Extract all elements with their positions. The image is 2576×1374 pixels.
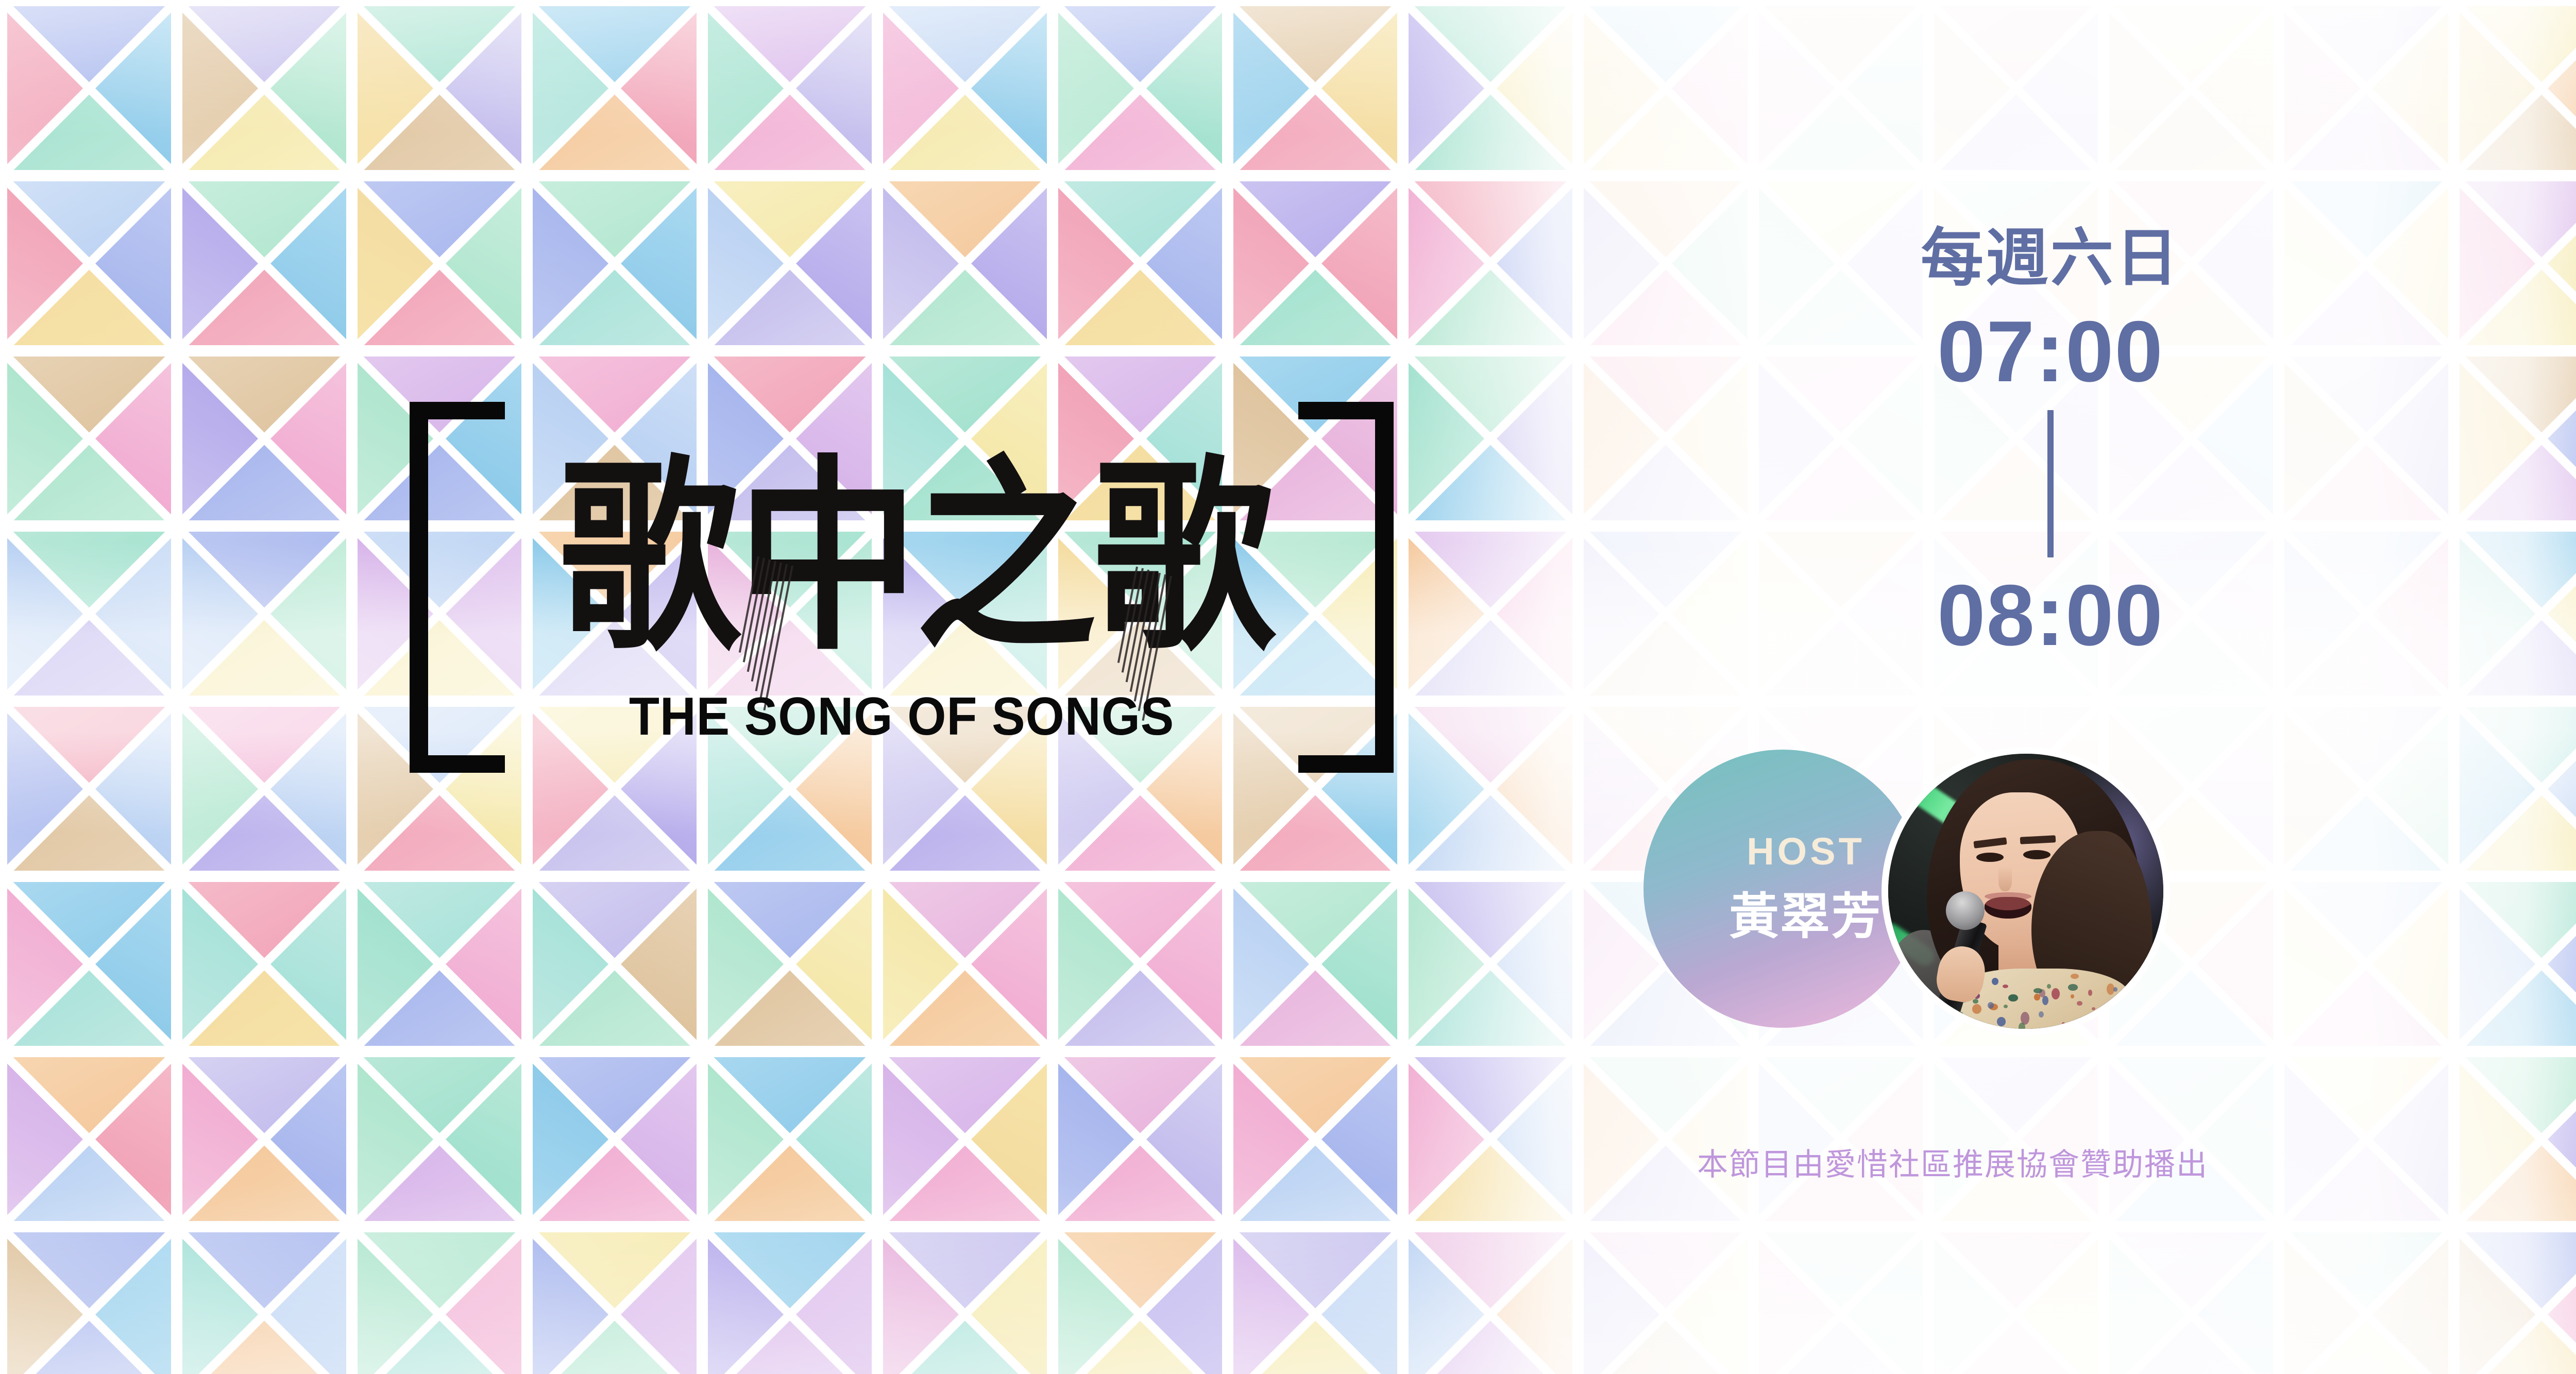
background-tile	[1584, 181, 1748, 345]
floral-motif	[2062, 1022, 2065, 1025]
background-tile	[1934, 6, 2098, 170]
background-tile	[2460, 1057, 2576, 1221]
background-tile	[2460, 6, 2576, 170]
background-tile	[1584, 1232, 1748, 1374]
background-tile	[533, 1057, 697, 1221]
background-tile	[533, 181, 697, 345]
photo-mouth	[1985, 897, 2031, 919]
background-tile	[1058, 181, 1222, 345]
background-tile	[7, 1232, 171, 1374]
background-tile	[182, 1057, 346, 1221]
background-tile	[2109, 1057, 2273, 1221]
background-tile	[1233, 882, 1397, 1046]
schedule-weekday: 每週六日	[1834, 227, 2267, 290]
floral-motif	[2008, 994, 2018, 1001]
floral-motif	[2067, 1023, 2072, 1030]
background-tile	[1409, 6, 1572, 170]
floral-motif	[2092, 1007, 2095, 1010]
background-tile	[2460, 707, 2576, 871]
floral-motif	[1951, 1021, 1954, 1024]
background-tile	[358, 6, 521, 170]
background-tile	[2284, 181, 2448, 345]
background-tile	[883, 882, 1047, 1046]
background-tile	[2460, 181, 2576, 345]
background-tile	[2460, 882, 2576, 1046]
background-tile	[1409, 357, 1572, 520]
background-tile	[1584, 1057, 1748, 1221]
photo-nose	[1998, 867, 2012, 891]
background-tile	[1934, 1057, 2098, 1221]
background-tile	[7, 357, 171, 520]
floral-motif	[2052, 988, 2060, 999]
background-tile	[358, 181, 521, 345]
floral-motif	[1997, 1017, 2006, 1026]
background-tile	[533, 1232, 697, 1374]
host-badge: HOST 黃翠芳	[1643, 750, 1922, 1028]
background-tile	[1584, 357, 1748, 520]
floral-motif	[2088, 990, 2093, 996]
host-block: HOST 黃翠芳	[1643, 750, 2221, 1079]
background-tile	[7, 882, 171, 1046]
floral-motif	[2085, 1014, 2091, 1023]
background-tile	[182, 532, 346, 696]
background-tile	[1058, 6, 1222, 170]
background-tile	[1058, 1057, 1222, 1221]
background-tile	[2284, 707, 2448, 871]
background-tile	[182, 357, 346, 520]
background-tile	[1233, 181, 1397, 345]
floral-motif	[1972, 1020, 1977, 1026]
photo-eye-right	[2023, 850, 2050, 859]
background-tile	[708, 1232, 872, 1374]
floral-motif	[2108, 1005, 2116, 1014]
background-tile	[182, 6, 346, 170]
floral-motif	[2004, 1005, 2008, 1008]
background-tile	[182, 181, 346, 345]
background-tile	[1584, 532, 1748, 696]
background-tile	[358, 1232, 521, 1374]
background-tile	[1409, 1232, 1572, 1374]
background-tile	[1233, 1232, 1397, 1374]
schedule-time-end: 08:00	[1834, 570, 2267, 660]
schedule-time-divider	[2047, 410, 2054, 557]
host-name: 黃翠芳	[1730, 876, 1883, 948]
floral-motif	[2061, 1028, 2070, 1036]
background-tile	[1934, 1232, 2098, 1374]
floral-motif	[1972, 1004, 1981, 1014]
background-tile	[1759, 1057, 1923, 1221]
background-tile	[1409, 532, 1572, 696]
floral-motif	[2068, 984, 2078, 990]
background-tile	[2284, 532, 2448, 696]
background-tile	[1409, 181, 1572, 345]
background-tile	[1584, 6, 1748, 170]
floral-motif	[1973, 999, 1979, 1004]
background-tile	[182, 1232, 346, 1374]
floral-motif	[2042, 996, 2048, 1005]
background-tile	[708, 1057, 872, 1221]
logo-chinese-wrap: 歌中之歌	[559, 417, 1244, 685]
floral-motif	[2003, 985, 2008, 988]
background-tile	[358, 1057, 521, 1221]
background-tile	[1233, 6, 1397, 170]
background-tile	[883, 6, 1047, 170]
floral-motif	[2077, 1001, 2082, 1006]
background-tile	[7, 1057, 171, 1221]
floral-motif	[2114, 1014, 2124, 1021]
background-tile	[2460, 1232, 2576, 1374]
floral-motif	[1988, 1002, 1994, 1009]
background-tile	[2284, 1057, 2448, 1221]
background-tile	[1058, 1232, 1222, 1374]
schedule-time-start: 07:00	[1834, 306, 2267, 397]
background-tile	[708, 882, 872, 1046]
background-tile	[883, 1057, 1047, 1221]
floral-motif	[2071, 974, 2079, 979]
background-tile	[883, 1232, 1047, 1374]
background-tile	[1233, 1057, 1397, 1221]
background-tile	[2284, 6, 2448, 170]
floral-motif	[2039, 1011, 2044, 1018]
background-tile	[2109, 6, 2273, 170]
background-tile	[2284, 1232, 2448, 1374]
background-tile	[1759, 6, 1923, 170]
background-tile	[7, 6, 171, 170]
background-tile	[533, 6, 697, 170]
background-tile	[533, 882, 697, 1046]
background-tile	[1409, 707, 1572, 871]
background-tile	[708, 6, 872, 170]
background-tile	[2460, 532, 2576, 696]
sponsor-credit: 本節目由愛惜社區推展協會贊助播出	[1618, 1140, 2287, 1184]
floral-motif	[2019, 1023, 2025, 1032]
poster-canvas: 歌中之歌 THE SONG OF SONGS 每週六日 07:00 08:00 …	[0, 0, 2576, 1374]
floral-motif	[2047, 984, 2051, 989]
host-label: HOST	[1747, 829, 1865, 873]
floral-motif	[1992, 978, 1998, 985]
background-tile	[2460, 357, 2576, 520]
background-tile	[2109, 1232, 2273, 1374]
background-tile	[358, 882, 521, 1046]
background-tile	[1759, 1232, 1923, 1374]
floral-motif	[1977, 1030, 1985, 1036]
logo-title-english: THE SONG OF SONGS	[444, 686, 1359, 748]
background-tile	[2284, 357, 2448, 520]
logo-title-chinese: 歌中之歌	[559, 417, 1244, 699]
background-tile	[182, 707, 346, 871]
background-tile	[2284, 882, 2448, 1046]
background-tile	[883, 181, 1047, 345]
floral-motif	[2071, 994, 2074, 998]
broadcast-schedule: 每週六日 07:00 08:00	[1834, 227, 2267, 661]
background-tile	[7, 181, 171, 345]
background-tile	[7, 707, 171, 871]
background-tile	[1409, 882, 1572, 1046]
host-avatar	[1882, 747, 2170, 1036]
program-logo: 歌中之歌 THE SONG OF SONGS	[410, 402, 1394, 773]
background-tile	[182, 882, 346, 1046]
background-tile	[1058, 882, 1222, 1046]
background-tile	[7, 532, 171, 696]
background-tile	[1409, 1057, 1572, 1221]
bracket-right-icon	[1298, 402, 1394, 773]
background-tile	[708, 181, 872, 345]
floral-motif	[2113, 987, 2117, 991]
